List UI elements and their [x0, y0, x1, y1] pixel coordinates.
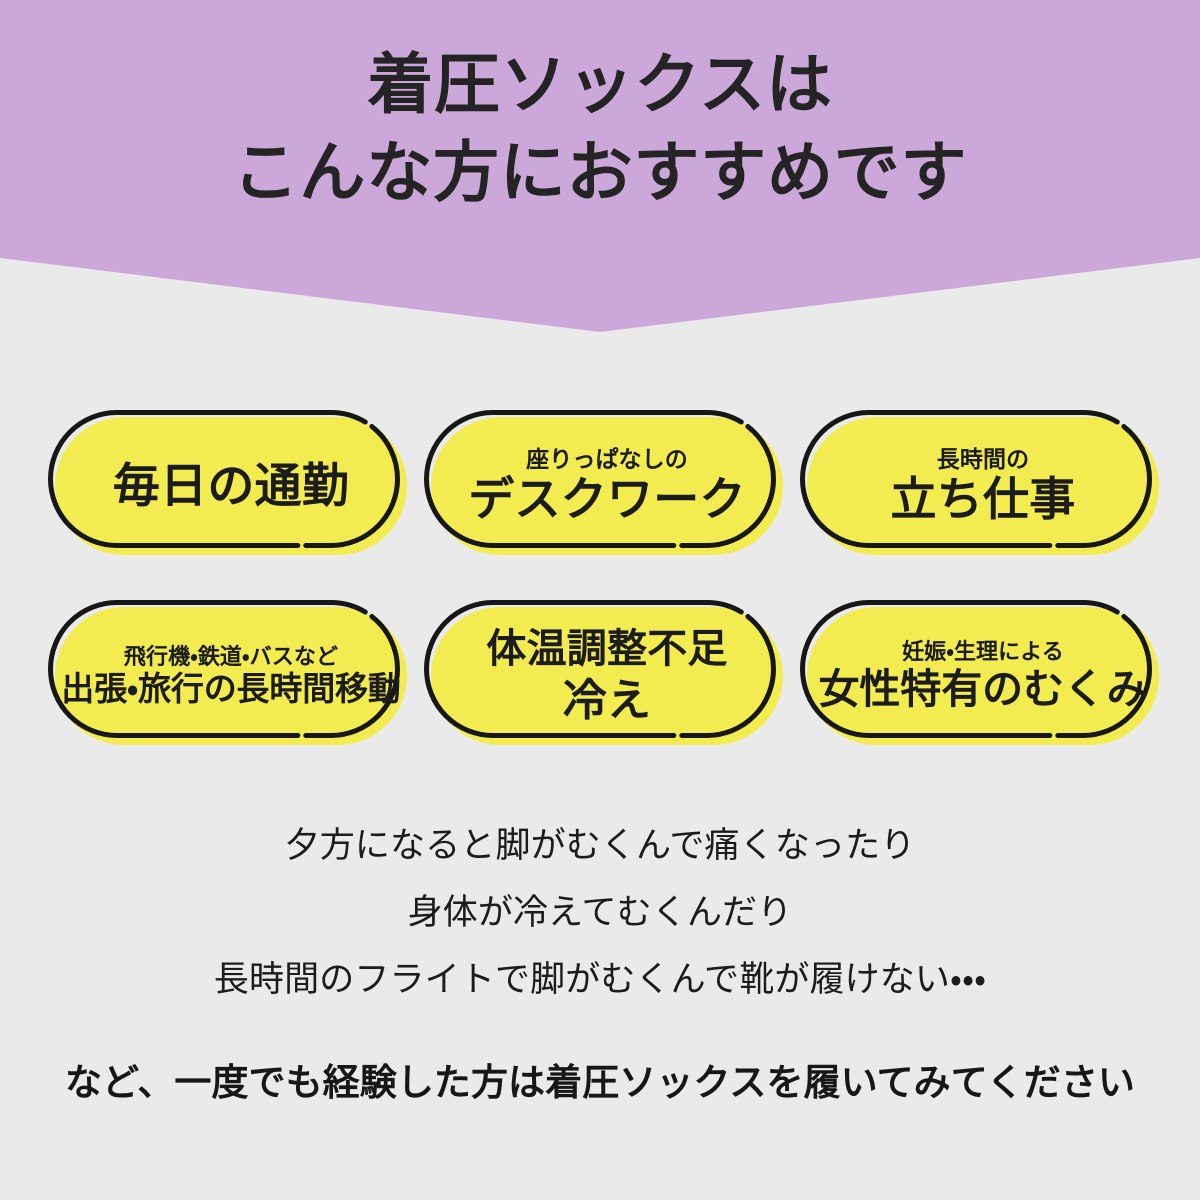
pill-standing-work: 長時間の 立ち仕事: [800, 410, 1152, 548]
pill-main-text: 毎日の通勤: [113, 460, 349, 513]
pill-label: 座りっぱなしの デスクワーク: [431, 417, 783, 555]
pill-main-text: 女性特有のむくみ: [819, 667, 1148, 713]
pill-label: 毎日の通勤: [55, 417, 407, 555]
pill-main-text: 立ち仕事: [891, 474, 1076, 526]
pill-label: 飛行機・鉄道・バスなど 出張・旅行の長時間移動: [55, 607, 407, 745]
pill-label: 妊娠・生理による 女性特有のむくみ: [807, 607, 1159, 745]
pill-daily-commute: 毎日の通勤: [48, 410, 400, 548]
pill-poor-temperature-regulation: 体温調整不足 冷え: [424, 600, 776, 738]
page-title-line-2: こんな方におすすめです: [0, 128, 1200, 216]
pill-main-text: 出張・旅行の長時間移動: [61, 671, 400, 708]
pill-business-travel: 飛行機・鉄道・バスなど 出張・旅行の長時間移動: [48, 600, 400, 738]
pill-main-text: デスクワーク: [468, 474, 745, 526]
pill-female-swelling: 妊娠・生理による 女性特有のむくみ: [800, 600, 1152, 738]
recommendation-pill-grid: 毎日の通勤 座りっぱなしの デスクワーク 長時間の 立ち仕事 飛行機・鉄道・バス…: [48, 410, 1152, 738]
page-title: 着圧ソックスは こんな方におすすめです: [0, 40, 1200, 217]
closing-statement: など、一度でも経験した方は着圧ソックスを履いてみてください: [0, 1052, 1200, 1106]
pill-label: 長時間の 立ち仕事: [807, 417, 1159, 555]
pill-sub-text: 座りっぱなしの: [526, 446, 688, 472]
body-copy-line-3: 長時間のフライトで脚がむくんで靴が履けない・・・: [0, 962, 1200, 997]
page-title-line-1: 着圧ソックスは: [0, 40, 1200, 128]
pill-desk-work: 座りっぱなしの デスクワーク: [424, 410, 776, 548]
pill-sub-text: 長時間の: [937, 446, 1029, 472]
pill-sub-text: 飛行機・鉄道・バスなど: [124, 644, 338, 669]
pill-label: 体温調整不足 冷え: [431, 607, 783, 745]
pill-sub-text: 体温調整不足: [486, 626, 727, 672]
body-copy-line-1: 夕方になると脚がむくんで痛くなったり: [0, 828, 1200, 863]
body-copy-line-2: 身体が冷えてむくんだり: [0, 895, 1200, 930]
pill-main-text: 冷え: [563, 676, 651, 725]
body-copy: 夕方になると脚がむくんで痛くなったり 身体が冷えてむくんだり 長時間のフライトで…: [0, 828, 1200, 997]
pill-sub-text: 妊娠・生理による: [902, 639, 1064, 664]
